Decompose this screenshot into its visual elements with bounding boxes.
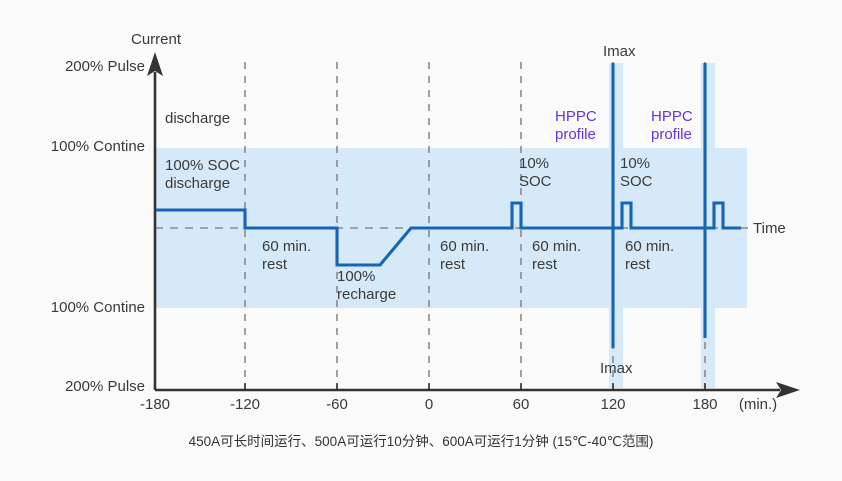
annotation-hppc-profile-b: HPPC profile [651, 108, 693, 145]
annotation-soc-10-a: 10% SOC [519, 155, 552, 192]
y-axis-label-200-pulse-bottom: 200% Pulse [40, 378, 145, 396]
battery-current-profile-diagram: 200% Pulse 100% Contine 100% Contine 200… [0, 0, 842, 481]
annotation-soc-discharge: 100% SOC discharge [165, 157, 240, 194]
x-tick-label-120: 120 [583, 396, 643, 414]
figure-caption: 450A可长时间运行、500A可运行10分钟、600A可运行1分钟 (15℃-4… [0, 434, 842, 450]
x-axis-unit-label: (min.) [723, 396, 793, 414]
annotation-imax-top: Imax [603, 43, 636, 61]
annotation-discharge: discharge [165, 110, 230, 128]
x-tick-label--120: -120 [215, 396, 275, 414]
y-axis-title: Current [131, 31, 181, 49]
x-axis-title: Time [753, 220, 786, 238]
x-tick-label--60: -60 [307, 396, 367, 414]
y-axis-label-100-contine-top: 100% Contine [25, 138, 145, 156]
annotation-soc-10-b: 10% SOC [620, 155, 653, 192]
annotation-hppc-profile-a: HPPC profile [555, 108, 597, 145]
annotation-rest-3: 60 min. rest [532, 238, 581, 275]
y-axis-label-100-contine-bottom: 100% Contine [25, 299, 145, 317]
annotation-rest-1: 60 min. rest [262, 238, 311, 275]
annotation-rest-4: 60 min. rest [625, 238, 674, 275]
annotation-imax-bottom: Imax [600, 360, 633, 378]
x-tick-label-0: 0 [399, 396, 459, 414]
x-tick-label--180: -180 [125, 396, 185, 414]
x-tick-label-60: 60 [491, 396, 551, 414]
y-axis-label-200-pulse-top: 200% Pulse [40, 58, 145, 76]
annotation-recharge: 100% recharge [337, 268, 396, 305]
annotation-rest-2: 60 min. rest [440, 238, 489, 275]
